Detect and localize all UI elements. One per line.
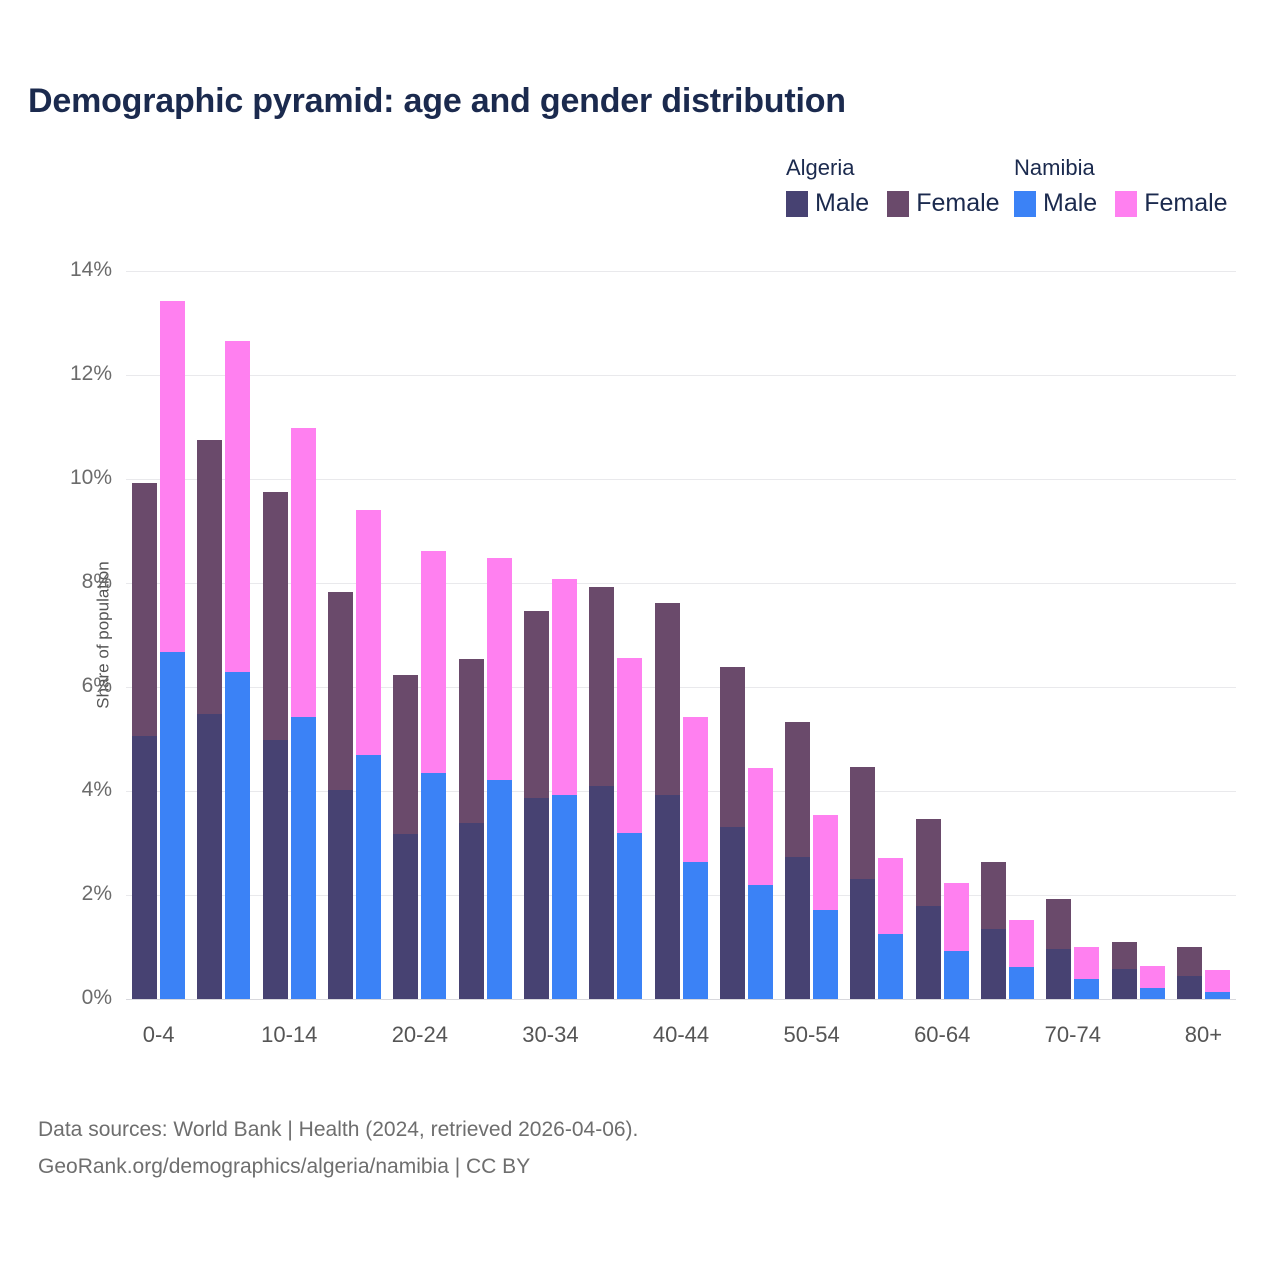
- bar-group: [779, 271, 844, 999]
- bar-segment-male: [132, 736, 157, 999]
- bar-group: [583, 271, 648, 999]
- bar-segment-female: [356, 510, 381, 755]
- bar-group: [648, 271, 713, 999]
- bar-group: [910, 271, 975, 999]
- bar-segment-female: [459, 659, 484, 823]
- x-axis-tick-label: [583, 1022, 648, 1062]
- bar-segment-female: [683, 717, 708, 862]
- stacked-bar-algeria[interactable]: [263, 492, 288, 999]
- page-title: Demographic pyramid: age and gender dist…: [28, 82, 846, 121]
- bar-segment-female: [197, 440, 222, 715]
- bar-group: [1105, 271, 1170, 999]
- stacked-bar-namibia[interactable]: [421, 551, 446, 999]
- legend-country-algeria: Algeria: [786, 155, 1014, 181]
- bar-segment-female: [785, 722, 810, 857]
- x-axis-tick-label: 60-64: [910, 1022, 975, 1062]
- stacked-bar-algeria[interactable]: [197, 440, 222, 1000]
- bar-segment-female: [878, 858, 903, 934]
- bar-segment-male: [981, 929, 1006, 999]
- y-axis-tick-label: 2%: [22, 882, 112, 906]
- stacked-bar-namibia[interactable]: [944, 883, 969, 999]
- stacked-bar-algeria[interactable]: [850, 767, 875, 999]
- bar-segment-male: [916, 906, 941, 999]
- x-axis-tick-label: 10-14: [257, 1022, 322, 1062]
- legend-item-namibia-female[interactable]: Female: [1115, 189, 1227, 218]
- stacked-bar-namibia[interactable]: [683, 717, 708, 999]
- bar-segment-male: [524, 798, 549, 999]
- bar-segment-male: [197, 714, 222, 999]
- x-axis-tick-label: [322, 1022, 387, 1062]
- x-axis-tick-label: [1105, 1022, 1170, 1062]
- stacked-bar-namibia[interactable]: [225, 341, 250, 999]
- bar-segment-female: [589, 587, 614, 786]
- stacked-bar-namibia[interactable]: [487, 558, 512, 999]
- legend-swatch-icon: [1014, 191, 1036, 217]
- bar-group: [1040, 271, 1105, 999]
- bar-segment-female: [524, 611, 549, 799]
- stacked-bar-algeria[interactable]: [720, 667, 745, 999]
- legend-item-algeria-female[interactable]: Female: [887, 189, 999, 218]
- legend-swatch-icon: [887, 191, 909, 217]
- bar-segment-male: [813, 910, 838, 999]
- legend-group-titles: Algeria Namibia: [786, 155, 1242, 181]
- stacked-bar-algeria[interactable]: [1112, 942, 1137, 999]
- legend-item-algeria-male[interactable]: Male: [786, 189, 869, 218]
- bar-group: [387, 271, 452, 999]
- x-axis-ticks: 0-410-1420-2430-3440-4450-5460-6470-7480…: [126, 1022, 1236, 1062]
- y-axis-tick-label: 8%: [22, 570, 112, 594]
- x-axis-tick-label: [714, 1022, 779, 1062]
- legend-block-algeria: Male Female: [786, 189, 1014, 218]
- stacked-bar-namibia[interactable]: [356, 510, 381, 999]
- bar-segment-male: [683, 862, 708, 999]
- y-axis-tick-label: 12%: [22, 362, 112, 386]
- stacked-bar-algeria[interactable]: [916, 819, 941, 999]
- bar-segment-male: [552, 795, 577, 999]
- bar-segment-female: [160, 301, 185, 652]
- bar-segment-female: [1140, 966, 1165, 988]
- legend-label-algeria-female: Female: [916, 189, 999, 218]
- bar-segment-male: [459, 823, 484, 999]
- bar-group: [518, 271, 583, 999]
- bar-segment-male: [328, 790, 353, 999]
- bar-segment-female: [1074, 947, 1099, 979]
- stacked-bar-namibia[interactable]: [748, 768, 773, 999]
- bar-segment-female: [132, 483, 157, 736]
- stacked-bar-namibia[interactable]: [160, 301, 185, 999]
- x-axis-tick-label: 40-44: [648, 1022, 713, 1062]
- bar-segment-male: [589, 786, 614, 999]
- bar-segment-male: [785, 857, 810, 999]
- bar-segment-female: [552, 579, 577, 795]
- bar-segment-male: [1177, 976, 1202, 999]
- stacked-bar-namibia[interactable]: [617, 658, 642, 999]
- bar-segment-female: [328, 592, 353, 790]
- y-axis-tick-label: 14%: [22, 258, 112, 282]
- bar-segment-male: [1140, 988, 1165, 999]
- stacked-bar-algeria[interactable]: [981, 862, 1006, 999]
- stacked-bar-algeria[interactable]: [1177, 947, 1202, 999]
- bar-segment-female: [1046, 899, 1071, 949]
- stacked-bar-algeria[interactable]: [393, 675, 418, 999]
- legend-country-namibia: Namibia: [1014, 155, 1242, 181]
- bar-segment-male: [748, 885, 773, 999]
- bar-segment-male: [944, 951, 969, 999]
- legend-label-namibia-male: Male: [1043, 189, 1097, 218]
- stacked-bar-algeria[interactable]: [589, 587, 614, 999]
- bar-segment-male: [160, 652, 185, 999]
- bar-segment-female: [813, 815, 838, 910]
- gridline: [126, 999, 1236, 1000]
- stacked-bar-algeria[interactable]: [459, 659, 484, 999]
- bar-segment-male: [1112, 969, 1137, 999]
- bar-group: [257, 271, 322, 999]
- bar-segment-female: [487, 558, 512, 780]
- y-axis-tick-label: 0%: [22, 986, 112, 1010]
- bar-segment-female: [655, 603, 680, 795]
- bar-segment-female: [263, 492, 288, 740]
- stacked-bar-namibia[interactable]: [1009, 920, 1034, 999]
- stacked-bar-algeria[interactable]: [524, 611, 549, 999]
- bar-segment-female: [225, 341, 250, 673]
- x-axis-tick-label: [191, 1022, 256, 1062]
- stacked-bar-namibia[interactable]: [1074, 947, 1099, 999]
- plot-area: 0%2%4%6%8%10%12%14%: [126, 271, 1236, 999]
- bar-groups: [126, 271, 1236, 999]
- bar-segment-male: [421, 773, 446, 999]
- chart-page: Demographic pyramid: age and gender dist…: [0, 0, 1280, 1280]
- bar-group: [126, 271, 191, 999]
- bar-segment-male: [356, 755, 381, 999]
- bar-segment-female: [944, 883, 969, 951]
- x-axis-tick-label: 80+: [1171, 1022, 1236, 1062]
- x-axis-tick-label: [844, 1022, 909, 1062]
- x-axis-tick-label: [975, 1022, 1040, 1062]
- bar-segment-female: [720, 667, 745, 828]
- y-axis-tick-label: 10%: [22, 466, 112, 490]
- stacked-bar-algeria[interactable]: [328, 592, 353, 999]
- bar-group: [322, 271, 387, 999]
- y-axis-tick-label: 4%: [22, 778, 112, 802]
- x-axis-tick-label: 0-4: [126, 1022, 191, 1062]
- bar-segment-male: [291, 717, 316, 999]
- y-axis-tick-label: 6%: [22, 674, 112, 698]
- stacked-bar-algeria[interactable]: [132, 483, 157, 999]
- legend-label-namibia-female: Female: [1144, 189, 1227, 218]
- bar-segment-male: [263, 740, 288, 999]
- bar-segment-female: [291, 428, 316, 717]
- bar-segment-female: [421, 551, 446, 774]
- legend-swatch-icon: [1115, 191, 1137, 217]
- bar-segment-female: [617, 658, 642, 832]
- footer: Data sources: World Bank | Health (2024,…: [38, 1112, 638, 1186]
- bar-group: [714, 271, 779, 999]
- bar-segment-female: [916, 819, 941, 907]
- legend-label-algeria-male: Male: [815, 189, 869, 218]
- bar-segment-male: [1205, 992, 1230, 999]
- stacked-bar-algeria[interactable]: [1046, 899, 1071, 999]
- stacked-bar-algeria[interactable]: [785, 722, 810, 999]
- bar-group: [191, 271, 256, 999]
- stacked-bar-namibia[interactable]: [813, 815, 838, 999]
- bar-segment-female: [850, 767, 875, 880]
- bar-segment-female: [1205, 970, 1230, 992]
- bar-segment-male: [225, 672, 250, 999]
- bar-segment-female: [1177, 947, 1202, 976]
- legend-item-namibia-male[interactable]: Male: [1014, 189, 1097, 218]
- bar-segment-male: [1046, 949, 1071, 999]
- stacked-bar-namibia[interactable]: [552, 579, 577, 999]
- bar-segment-female: [1112, 942, 1137, 969]
- bar-group: [975, 271, 1040, 999]
- footer-line-2: GeoRank.org/demographics/algeria/namibia…: [38, 1149, 638, 1186]
- x-axis-tick-label: 70-74: [1040, 1022, 1105, 1062]
- bar-segment-male: [393, 834, 418, 999]
- bar-segment-female: [748, 768, 773, 884]
- legend: Algeria Namibia Male Female Male: [786, 155, 1242, 218]
- bar-segment-female: [1009, 920, 1034, 967]
- bar-segment-female: [393, 675, 418, 834]
- x-axis-tick-label: 50-54: [779, 1022, 844, 1062]
- legend-swatch-icon: [786, 191, 808, 217]
- x-axis-tick-label: [452, 1022, 517, 1062]
- bar-group: [1171, 271, 1236, 999]
- stacked-bar-namibia[interactable]: [291, 428, 316, 999]
- bar-segment-male: [617, 833, 642, 999]
- bar-group: [452, 271, 517, 999]
- legend-block-namibia: Male Female: [1014, 189, 1242, 218]
- bar-segment-male: [655, 795, 680, 999]
- bar-segment-male: [850, 879, 875, 999]
- stacked-bar-namibia[interactable]: [1140, 966, 1165, 999]
- bar-segment-female: [981, 862, 1006, 930]
- x-axis-tick-label: 20-24: [387, 1022, 452, 1062]
- footer-line-1: Data sources: World Bank | Health (2024,…: [38, 1112, 638, 1149]
- bar-segment-male: [1009, 967, 1034, 999]
- bar-segment-male: [720, 827, 745, 999]
- bar-segment-male: [487, 780, 512, 999]
- legend-items: Male Female Male Female: [786, 189, 1242, 218]
- x-axis-tick-label: 30-34: [518, 1022, 583, 1062]
- stacked-bar-algeria[interactable]: [655, 603, 680, 999]
- bar-segment-male: [1074, 979, 1099, 999]
- bar-group: [844, 271, 909, 999]
- stacked-bar-namibia[interactable]: [878, 858, 903, 999]
- bar-segment-male: [878, 934, 903, 999]
- stacked-bar-namibia[interactable]: [1205, 970, 1230, 999]
